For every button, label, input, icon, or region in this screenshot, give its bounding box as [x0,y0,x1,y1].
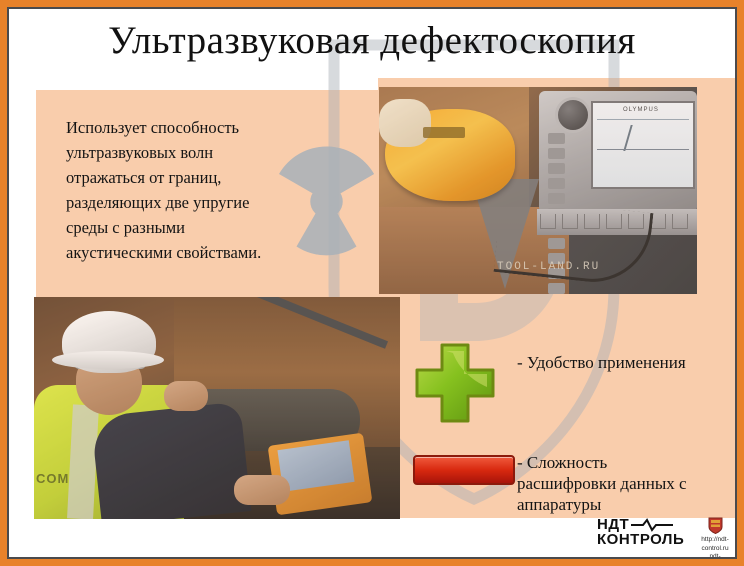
upper-white-strip [18,78,378,90]
glove-label [423,127,465,138]
bullet-disadvantage: - Сложность расшифровки данных с аппарат… [517,452,707,515]
bullet-advantage: - Удобство применения [517,352,727,373]
slide-canvas: OLYMPUS TOOL-LAND.RU [9,9,735,557]
probe-cable [493,197,653,288]
body-line: разделяющих две упругие [66,190,366,215]
crest-shield-icon [708,517,723,534]
glove-cuff [379,99,431,147]
waveform-icon [631,518,673,532]
hard-hat-brim [52,351,164,369]
device-keypad [545,131,589,209]
body-line: отражаться от границ, [66,165,366,190]
body-line: среды с разными [66,215,366,240]
body-text-block: Использует способность ультразвуковых во… [66,115,366,265]
field-inspection-photo: COM [34,297,400,519]
device-screen [591,101,695,189]
device-knob [555,97,591,133]
device-brand-label: OLYMPUS [623,107,659,113]
company-logo-block: НДТ КОНТРОЛЬ http://ndt-control. [597,517,735,557]
plus-icon [413,341,497,425]
ultrasonic-probe-photo: OLYMPUS TOOL-LAND.RU [379,87,697,294]
photo-watermark-text: TOOL-LAND.RU [497,261,600,273]
vest-logo-text: COM [36,471,69,486]
logo-line-2: КОНТРОЛЬ [597,532,684,547]
contact-block: http://ndt-control.ru ndt-control@mail.r… [692,517,735,557]
ndt-wordmark: НДТ КОНТРОЛЬ [597,517,684,547]
technician-hand-left [164,381,208,411]
logo-line-1: НДТ [597,517,629,532]
contact-website[interactable]: http://ndt-control.ru [692,536,735,553]
body-line: акустическими свойствами. [66,240,366,265]
minus-icon [413,455,515,485]
technician-hand-right [234,475,290,505]
presentation-slide: OLYMPUS TOOL-LAND.RU [0,0,744,566]
contact-email[interactable]: ndt-control@mail.ru [692,553,735,557]
body-line: Использует способность [66,115,366,140]
jacket-sleeve [91,401,252,519]
body-line: ультразвуковых волн [66,140,366,165]
page-title: Ультразвуковая дефектоскопия [0,18,744,63]
